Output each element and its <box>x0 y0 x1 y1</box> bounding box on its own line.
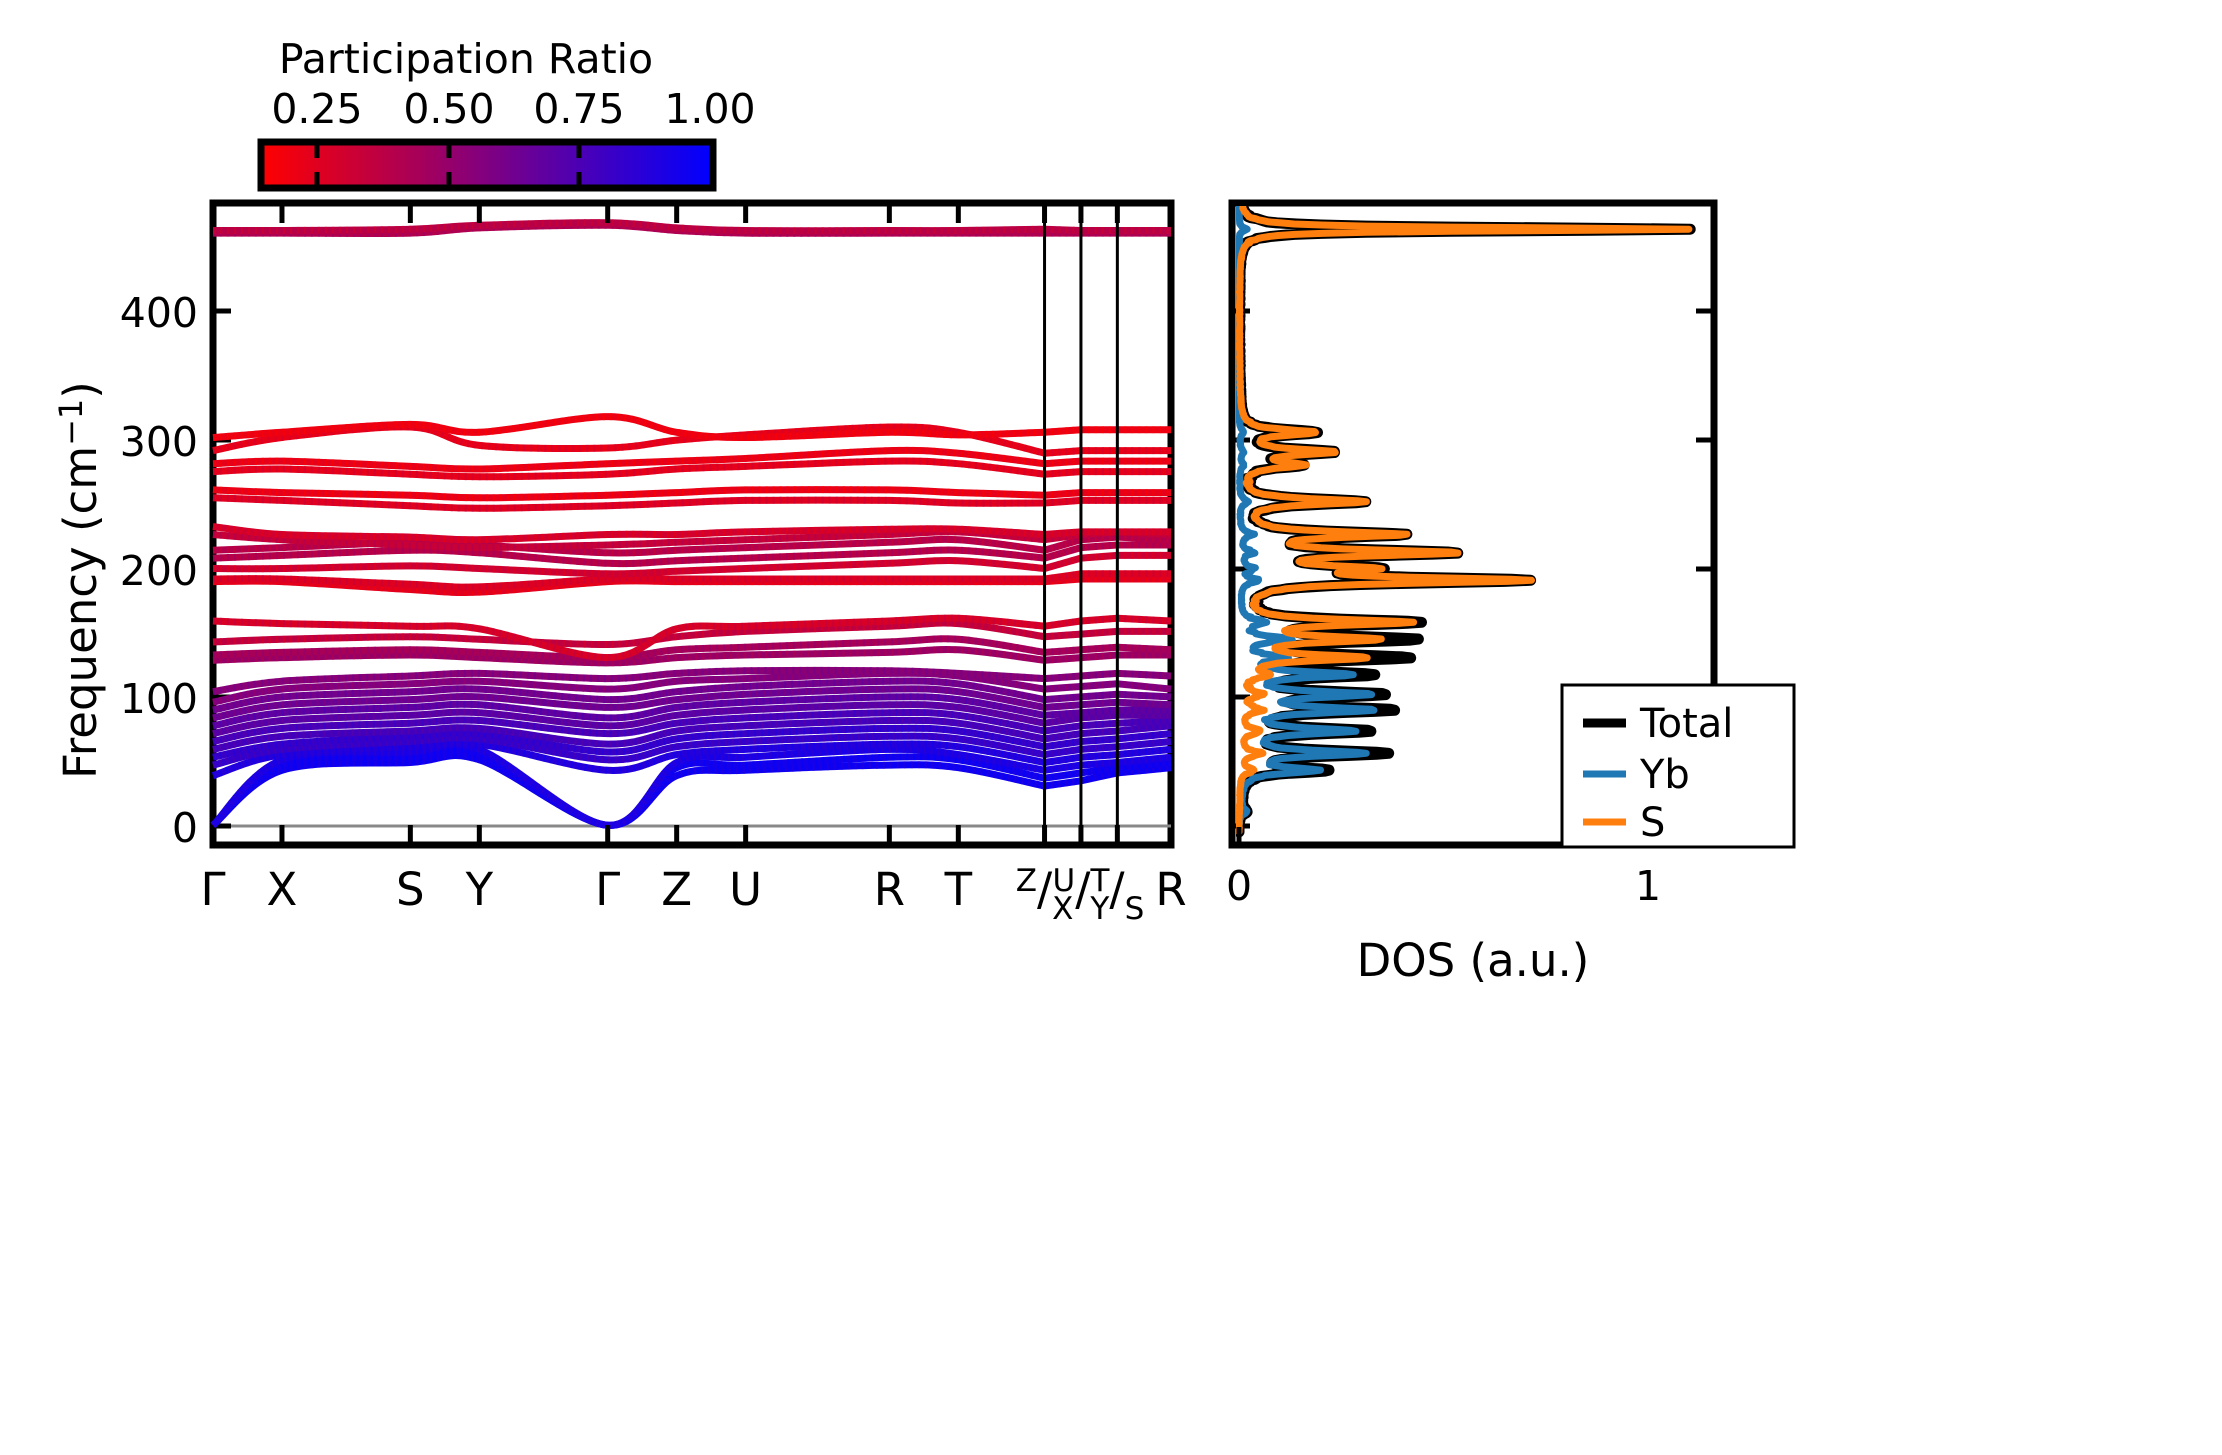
kpoint-label-7: R <box>874 863 905 916</box>
band-ytick-label-4: 400 <box>120 289 198 337</box>
kpoint-label-3: Y <box>465 863 494 916</box>
band-curve <box>1045 500 1081 503</box>
band-curve <box>1081 545 1118 548</box>
kpoint-label-6: U <box>729 863 762 916</box>
band-curve <box>1081 755 1118 758</box>
kpoint-label-2: S <box>396 863 425 916</box>
band-curve <box>1081 618 1118 621</box>
kpoint-label-5: Z <box>661 863 692 916</box>
figure-root: Participation Ratio 0.25 0.50 0.75 1.00 … <box>0 0 2222 1455</box>
colorbar-gradient <box>261 142 713 188</box>
band-curve <box>1081 763 1118 766</box>
dos-legend-label-s[interactable]: S <box>1640 800 1665 846</box>
colorbar-tick-label-2: 0.75 <box>533 85 624 133</box>
band-curve <box>1045 451 1081 454</box>
band-curve <box>1045 650 1081 653</box>
band-curve <box>1081 647 1118 650</box>
kpoint-label-12: R <box>1155 863 1186 916</box>
kpoint-label-4: Γ <box>595 863 620 916</box>
band-structure-panel: 0 100 200 300 400 ΓXSYΓZURTZ/XU/YT/SR <box>120 203 1187 927</box>
band-curve <box>1045 472 1081 475</box>
band-curve <box>1081 655 1118 658</box>
band-curve <box>1081 631 1118 634</box>
band-curve <box>1045 687 1081 690</box>
band-curve <box>1045 229 1081 230</box>
band-curve <box>1045 676 1081 679</box>
dos-legend-label-total[interactable]: Total <box>1639 701 1733 747</box>
band-ytick-label-0: 0 <box>172 804 198 852</box>
kpoint-label-0: Γ <box>200 863 225 916</box>
band-curve <box>1045 713 1081 716</box>
band-curve <box>1081 694 1118 697</box>
band-ytick-label-1: 100 <box>120 675 198 723</box>
band-curve <box>1045 532 1081 535</box>
band-curve <box>1045 697 1081 700</box>
dos-xtick-label-0: 0 <box>1226 862 1252 910</box>
band-curve <box>1081 673 1118 676</box>
band-ytick-label-3: 300 <box>120 418 198 466</box>
colorbar-tick-label-0: 0.25 <box>271 85 362 133</box>
band-curve <box>1081 684 1118 687</box>
band-curve <box>1081 555 1118 558</box>
band-curve <box>1045 493 1081 496</box>
dos-legend: Total Yb S <box>1562 685 1794 847</box>
band-curve <box>1081 710 1118 713</box>
kpoint-label-8: T <box>944 863 973 916</box>
band-curve <box>1081 702 1118 705</box>
band-curve <box>1045 634 1081 637</box>
band-curve <box>1081 723 1118 726</box>
kpoint-label-1: X <box>267 863 298 916</box>
figure-canvas: Participation Ratio 0.25 0.50 0.75 1.00 … <box>0 0 2222 1455</box>
colorbar-tick-label-1: 0.50 <box>403 85 494 133</box>
band-curve <box>1045 658 1081 661</box>
band-curve <box>1045 705 1081 708</box>
colorbar-tick-label-3: 1.00 <box>664 85 755 133</box>
band-curve <box>1081 747 1118 750</box>
band-ytick-label-2: 200 <box>120 547 198 595</box>
band-curve <box>1045 430 1081 433</box>
band-curve <box>1081 731 1118 734</box>
dos-xlabel: DOS (a.u.) <box>1357 934 1590 987</box>
band-curve <box>1045 461 1081 464</box>
dos-xtick-label-1: 1 <box>1635 862 1661 910</box>
dos-legend-label-yb[interactable]: Yb <box>1639 752 1690 798</box>
colorbar-title: Participation Ratio <box>279 35 653 83</box>
band-curve <box>1081 739 1118 742</box>
